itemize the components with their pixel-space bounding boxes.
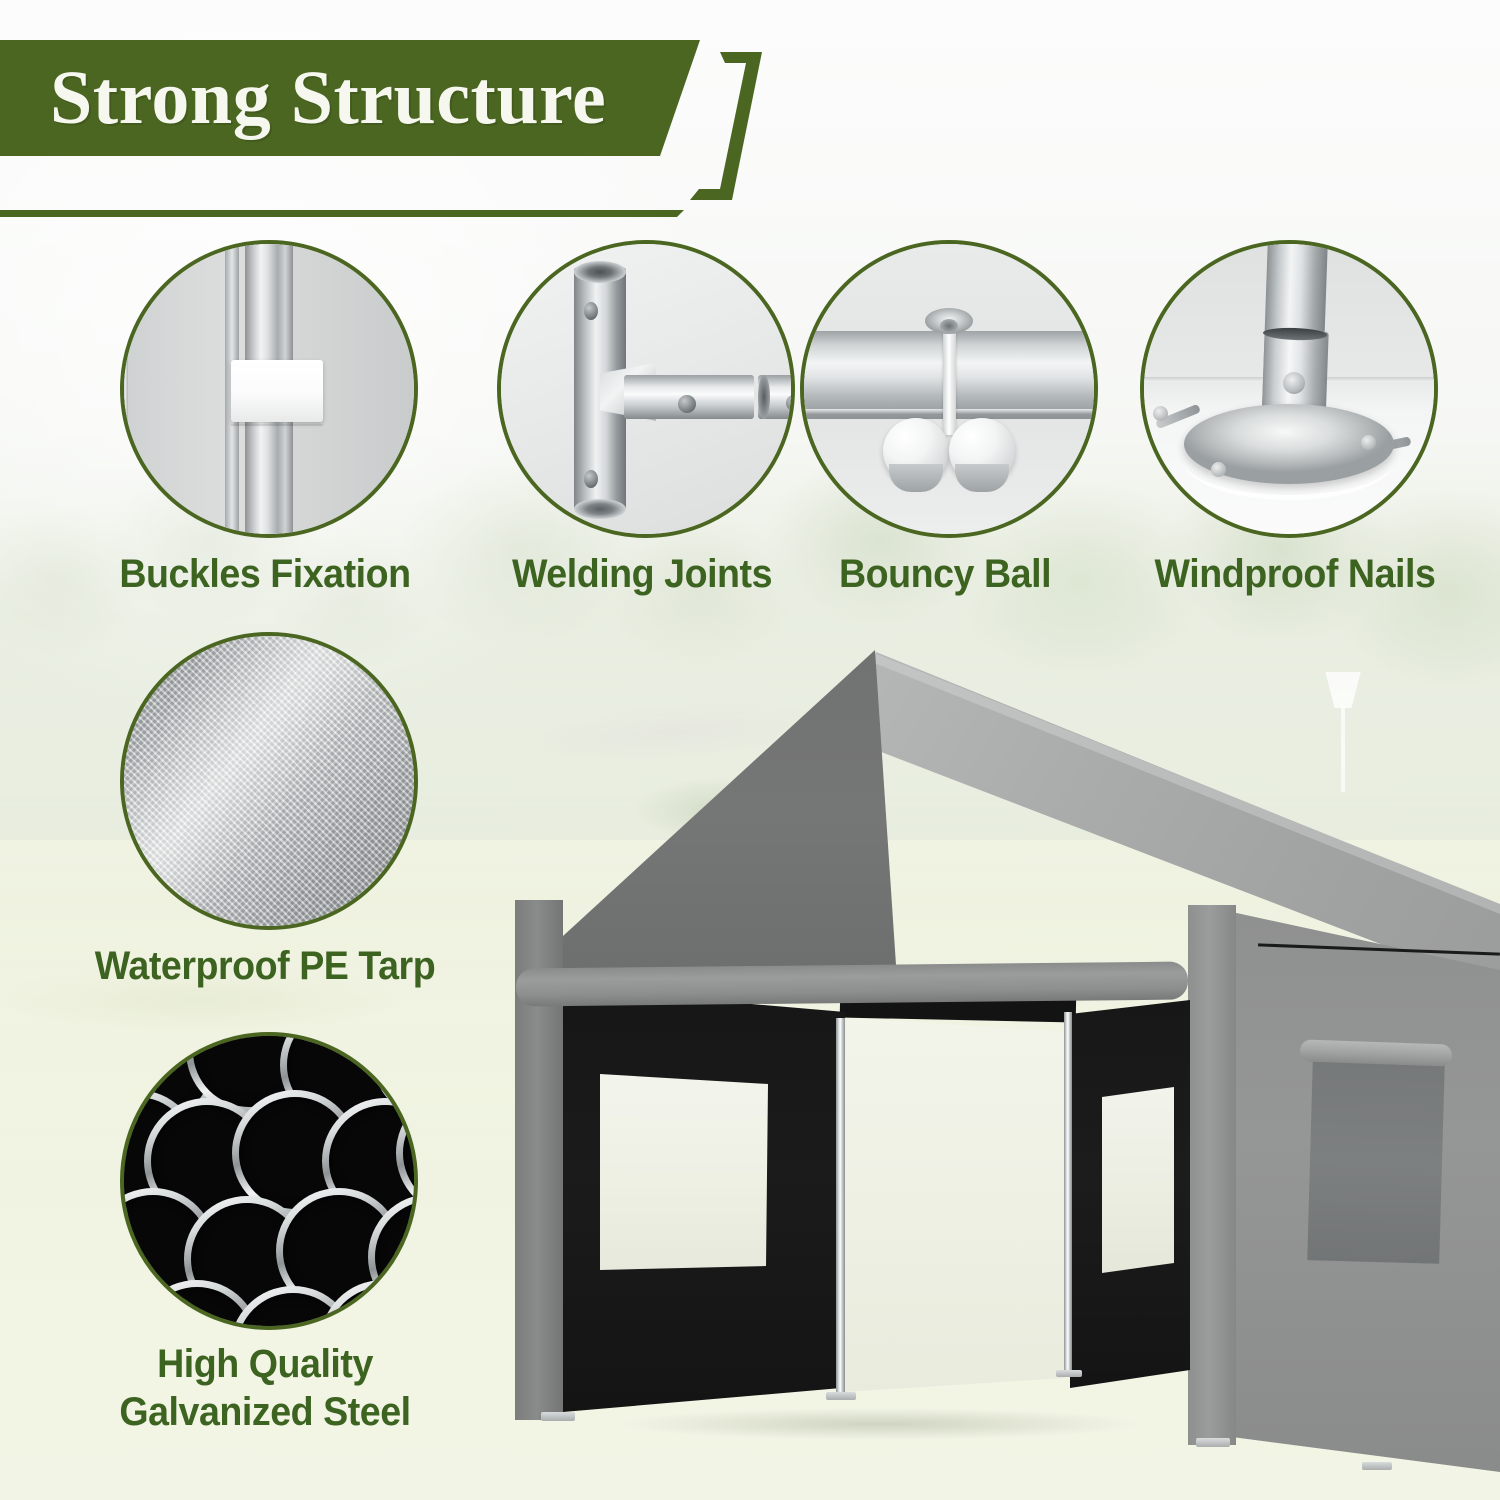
- feature-label-welding-joints: Welding Joints: [463, 552, 820, 597]
- feature-label-bouncy-ball: Bouncy Ball: [781, 552, 1110, 597]
- galvanized-steel-icon: [120, 1032, 418, 1330]
- page-title: Strong Structure: [50, 48, 606, 148]
- feature-label-galvanized-steel: High Quality Galvanized Steel: [86, 1340, 443, 1436]
- waterproof-pe-tarp-icon: [120, 632, 418, 930]
- bouncy-ball-icon: [800, 240, 1098, 538]
- header-banner: Strong Structure: [0, 40, 790, 180]
- product-feature-image: Strong Structure Buckles Fixation: [0, 0, 1500, 1500]
- feature-label-buckles-fixation: Buckles Fixation: [82, 552, 449, 597]
- galvanized-steel-label-line1: High Quality: [157, 1342, 373, 1386]
- banner-flag-accent: [690, 52, 762, 200]
- banner-underline-bar: [0, 210, 684, 217]
- galvanized-steel-label-line2: Galvanized Steel: [119, 1390, 410, 1434]
- buckles-fixation-icon: [120, 240, 418, 538]
- welding-joints-icon: [497, 240, 795, 538]
- feature-label-waterproof-pe-tarp: Waterproof PE Tarp: [68, 944, 463, 989]
- feature-label-windproof-nails: Windproof Nails: [1116, 552, 1473, 597]
- windproof-nails-icon: [1140, 240, 1438, 538]
